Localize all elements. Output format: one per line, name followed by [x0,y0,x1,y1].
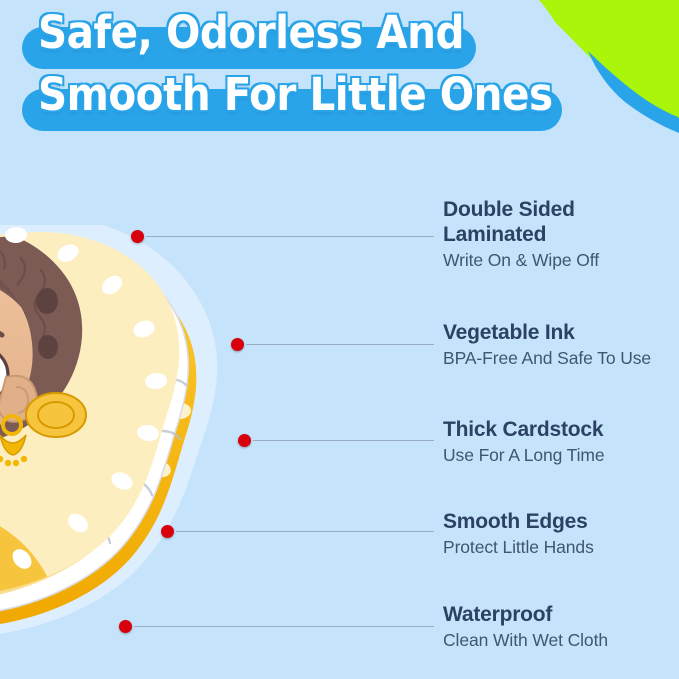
feature-title: Double Sided [443,197,599,222]
feature-leader-line [253,440,434,441]
feature-marker-dot [131,230,144,243]
heading-block: Safe, Odorless And Smooth For Little One… [0,10,600,134]
feature-marker-dot [238,434,251,447]
feature-subtitle: Use For A Long Time [443,444,605,467]
feature-subtitle: Write On & Wipe Off [443,249,599,272]
feature-subtitle: BPA-Free And Safe To Use [443,347,651,370]
feature-subtitle: Clean With Wet Cloth [443,629,608,652]
feature-title: Thick Cardstock [443,417,605,442]
feature-marker-dot [161,525,174,538]
feature-leader-line [246,344,434,345]
feature-waterproof: Waterproof Clean With Wet Cloth [443,602,608,652]
feature-double-sided-laminated: Double Sided Laminated Write On & Wipe O… [443,197,599,272]
heading-line-1-row: Safe, Odorless And [0,10,600,72]
feature-title: Waterproof [443,602,608,627]
feature-smooth-edges: Smooth Edges Protect Little Hands [443,509,594,559]
heading-line-2: Smooth For Little Ones [38,68,553,121]
feature-leader-line [134,626,434,627]
feature-marker-dot [231,338,244,351]
feature-marker-dot [119,620,132,633]
heading-line-2-row: Smooth For Little Ones [0,72,600,134]
infographic-canvas: Safe, Odorless And Smooth For Little One… [0,0,679,679]
feature-title: Vegetable Ink [443,320,651,345]
feature-leader-line [146,236,434,237]
product-illustration [0,225,370,665]
feature-thick-cardstock: Thick Cardstock Use For A Long Time [443,417,605,467]
feature-title: Smooth Edges [443,509,594,534]
feature-leader-line [176,531,434,532]
feature-vegetable-ink: Vegetable Ink BPA-Free And Safe To Use [443,320,651,370]
heading-line-1: Safe, Odorless And [38,6,464,59]
character-hair-ornament [26,393,86,437]
feature-subtitle: Protect Little Hands [443,536,594,559]
feature-title-line2: Laminated [443,222,599,247]
